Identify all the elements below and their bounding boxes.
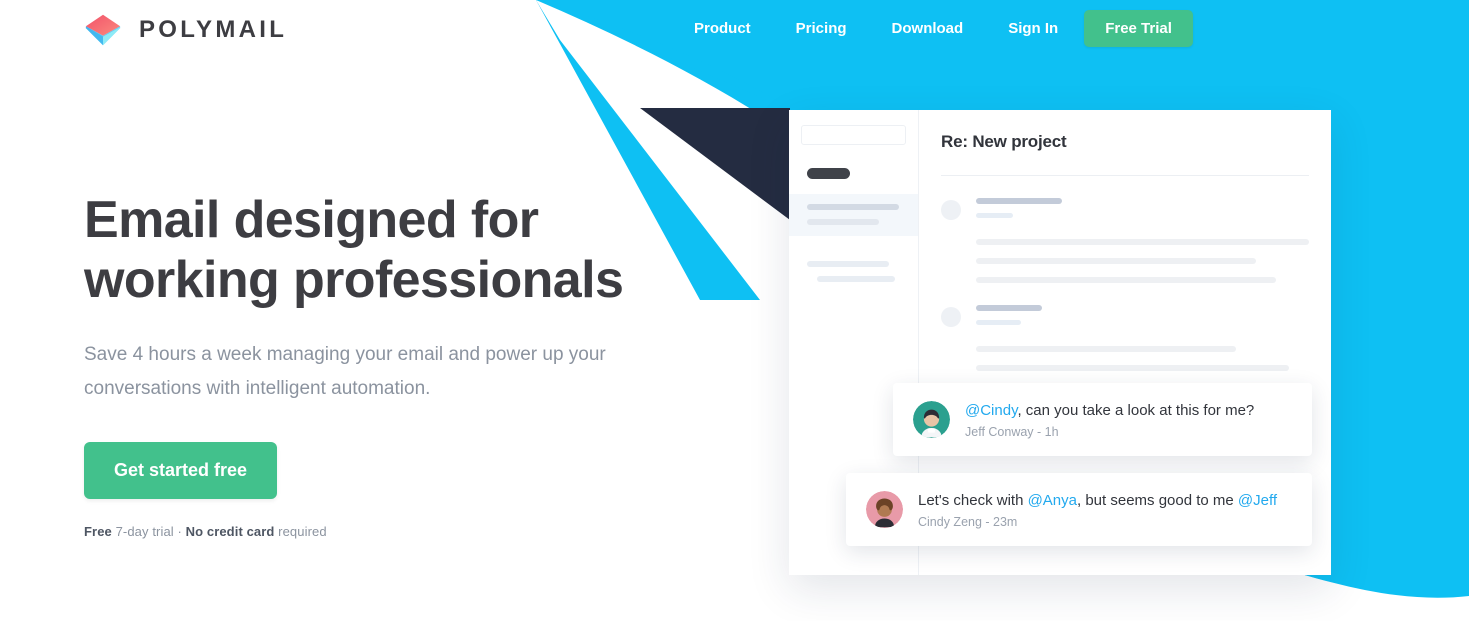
mockup-skeleton-bar — [976, 239, 1309, 245]
mockup-skeleton-bar — [976, 277, 1276, 283]
mockup-skeleton-bar — [976, 213, 1013, 218]
hero-title-line-1: Email designed for — [84, 191, 538, 249]
mockup-message — [941, 305, 1309, 390]
mention-card-text-mid: , but seems good to me — [1077, 492, 1238, 509]
envelope-logo-icon — [84, 11, 122, 49]
mockup-skeleton-bar — [976, 320, 1021, 325]
mockup-skeleton-bar — [817, 276, 895, 282]
trial-note-no-card: No credit card — [186, 524, 275, 539]
nav-item-pricing[interactable]: Pricing — [796, 14, 847, 43]
mention-card-cindy[interactable]: Let's check with @Anya, but seems good t… — [846, 473, 1312, 546]
mockup-skeleton-bar — [976, 365, 1289, 371]
logo[interactable]: POLYMAIL — [84, 11, 287, 49]
avatar — [866, 491, 903, 528]
mention-card-meta: Cindy Zeng - 23m — [918, 515, 1277, 529]
mockup-skeleton-bar — [976, 198, 1062, 204]
hero-title-line-2: working professionals — [84, 251, 623, 309]
mockup-skeleton-bar — [976, 258, 1256, 264]
mockup-avatar-placeholder — [941, 200, 961, 220]
mockup-mail-subject: Re: New project — [941, 132, 1309, 152]
mockup-divider — [941, 175, 1309, 176]
mention-tag-jeff[interactable]: @Jeff — [1238, 492, 1277, 509]
mockup-list-item[interactable] — [789, 251, 918, 293]
trial-note: Free 7-day trial · No credit card requir… — [84, 524, 684, 539]
mockup-skeleton-bar — [807, 219, 879, 225]
mention-card-text: Let's check with @Anya, but seems good t… — [918, 491, 1277, 510]
mockup-avatar-placeholder — [941, 307, 961, 327]
mockup-search-input[interactable] — [801, 125, 906, 145]
hero-section: Email designed for working professionals… — [84, 190, 684, 539]
trial-note-free: Free — [84, 524, 112, 539]
mention-card-jeff[interactable]: @Cindy, can you take a look at this for … — [893, 383, 1312, 456]
mockup-skeleton-bar — [807, 261, 889, 267]
trial-note-mid-1: 7-day trial · — [112, 524, 186, 539]
mockup-skeleton-bar — [976, 305, 1042, 311]
avatar — [913, 401, 950, 438]
nav-item-sign-in[interactable]: Sign In — [1008, 14, 1058, 43]
nav-item-product[interactable]: Product — [694, 14, 751, 43]
main-nav: Product Pricing Download Sign In Free Tr… — [694, 0, 1193, 56]
mention-tag-anya[interactable]: @Anya — [1028, 492, 1077, 509]
mention-card-rest: , can you take a look at this for me? — [1017, 402, 1254, 419]
free-trial-button[interactable]: Free Trial — [1084, 10, 1193, 47]
mention-tag-cindy[interactable]: @Cindy — [965, 402, 1017, 419]
landing-page: POLYMAIL Product Pricing Download Sign I… — [0, 0, 1469, 621]
mention-card-meta: Jeff Conway - 1h — [965, 425, 1254, 439]
hero-subtitle: Save 4 hours a week managing your email … — [84, 338, 654, 406]
page-title: Email designed for working professionals — [84, 190, 684, 310]
mockup-skeleton-bar — [976, 346, 1236, 352]
get-started-button[interactable]: Get started free — [84, 442, 277, 499]
logo-wordmark: POLYMAIL — [139, 18, 287, 42]
mockup-list-item-active[interactable] — [789, 194, 918, 236]
mockup-sidebar-pill — [807, 168, 850, 179]
site-header: POLYMAIL Product Pricing Download Sign I… — [0, 0, 1469, 56]
nav-item-download[interactable]: Download — [892, 14, 964, 43]
mention-card-text-start: Let's check with — [918, 492, 1028, 509]
trial-note-mid-2: required — [274, 524, 326, 539]
mention-card-text: @Cindy, can you take a look at this for … — [965, 401, 1254, 420]
avatar-jeff-icon — [913, 401, 950, 438]
mockup-message — [941, 198, 1309, 283]
mockup-skeleton-bar — [807, 204, 899, 210]
avatar-cindy-icon — [866, 491, 903, 528]
